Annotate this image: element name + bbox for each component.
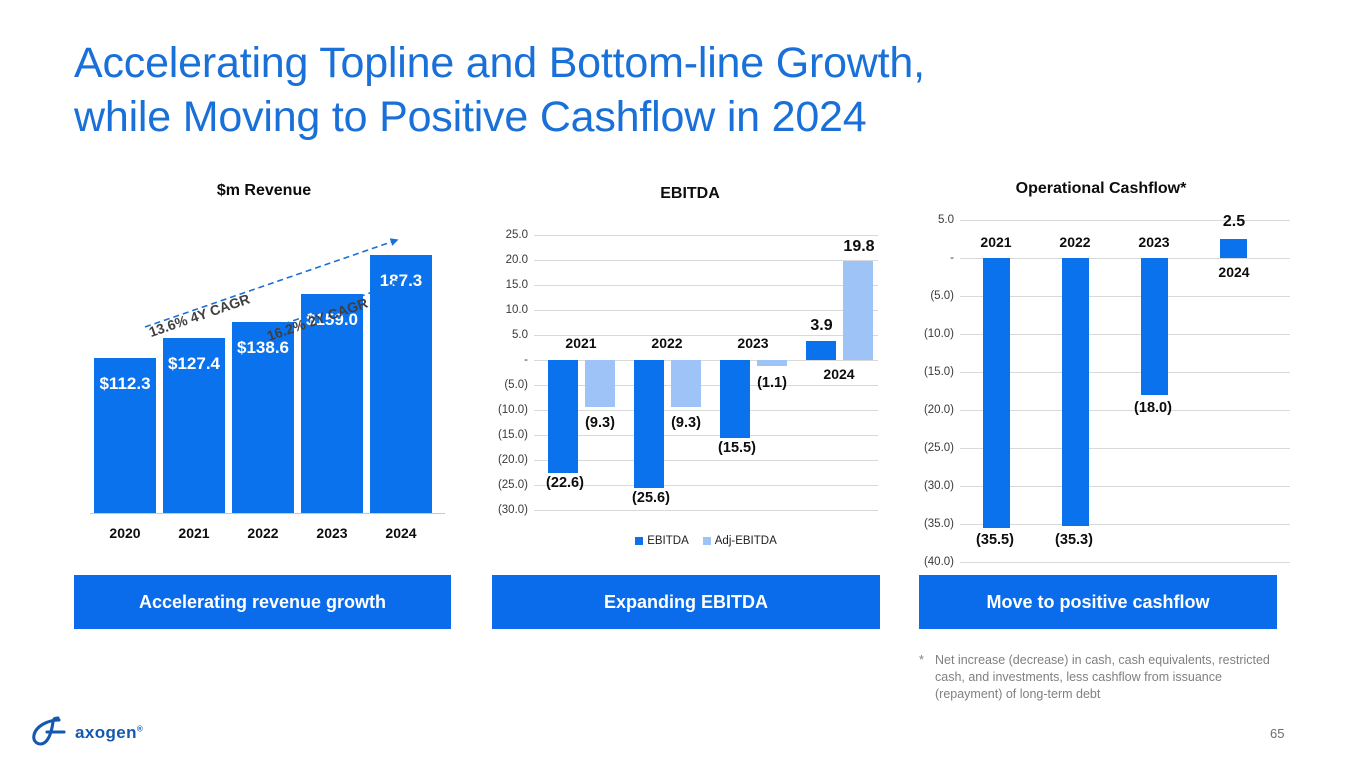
- gridline-ebitda-9: [534, 460, 878, 461]
- bar-ebitda-2023: [720, 360, 750, 438]
- legend-label-ebitda: EBITDA: [647, 535, 689, 547]
- page-title-line-1: Accelerating Topline and Bottom-line Gro…: [74, 36, 1194, 90]
- bar-label-adj-ebitda-2023: (1.1): [741, 375, 803, 391]
- gridline-ebitda-3: [534, 310, 878, 311]
- page-title-line-2: while Moving to Positive Cashflow in 202…: [74, 90, 1194, 144]
- bar-adj-ebitda-2023: [757, 360, 787, 366]
- chart-cashflow-plot: 2021 (35.5) 2022 (35.3) 2023 (18.0) 2.5 …: [960, 220, 1290, 563]
- bar-cashflow-2023: [1141, 258, 1168, 395]
- bar-label-ebitda-2023: (15.5): [702, 440, 772, 456]
- legend-swatch-ebitda-icon: [635, 537, 643, 545]
- axogen-wordmark: axogen®: [75, 723, 143, 743]
- gridline-ebitda-11: [534, 510, 878, 511]
- bar-cashflow-2024: [1220, 239, 1247, 258]
- footnote-text: Net increase (decrease) in cash, cash eq…: [919, 652, 1274, 703]
- bar-label-cashflow-2022: (35.3): [1031, 532, 1117, 548]
- gridline-ebitda-1: [534, 260, 878, 261]
- cat-label-revenue-2024: 2024: [370, 525, 432, 541]
- ytick-ebitda-7: (10.0): [490, 404, 528, 416]
- bar-label-ebitda-2024: 3.9: [799, 317, 844, 335]
- gridline-cashflow-9: [960, 562, 1290, 563]
- legend-swatch-adj-ebitda-icon: [703, 537, 711, 545]
- ytick-cashflow-7: (30.0): [912, 480, 954, 492]
- bar-cashflow-2022: [1062, 258, 1089, 526]
- page-title: Accelerating Topline and Bottom-line Gro…: [74, 36, 1194, 144]
- ytick-ebitda-3: 10.0: [490, 304, 528, 316]
- cat-label-cashflow-2021: 2021: [956, 234, 1036, 250]
- bar-label-cashflow-2021: (35.5): [952, 532, 1038, 548]
- bar-label-adj-ebitda-2021: (9.3): [569, 415, 631, 431]
- ytick-cashflow-1: -: [912, 252, 954, 264]
- footnote-marker: *: [919, 652, 924, 669]
- ytick-ebitda-11: (30.0): [490, 504, 528, 516]
- bar-ebitda-2024: [806, 341, 836, 361]
- bar-cashflow-2021: [983, 258, 1010, 528]
- ytick-cashflow-2: (5.0): [912, 290, 954, 302]
- bar-label-ebitda-2021: (22.6): [530, 475, 600, 491]
- ytick-cashflow-5: (20.0): [912, 404, 954, 416]
- chart-cashflow: Operational Cashflow* 5.0 - (5.0) (10.0)…: [912, 180, 1290, 550]
- chart-ebitda-legend: EBITDA Adj-EBITDA: [534, 535, 878, 547]
- ytick-ebitda-2: 15.0: [490, 279, 528, 291]
- cat-label-cashflow-2022: 2022: [1035, 234, 1115, 250]
- cat-label-ebitda-2021: 2021: [541, 335, 621, 351]
- cat-label-cashflow-2023: 2023: [1114, 234, 1194, 250]
- ytick-cashflow-0: 5.0: [912, 214, 954, 226]
- ytick-cashflow-3: (10.0): [912, 328, 954, 340]
- chart-revenue-plot: $112.3 $127.4 $138.6 $159.0 187.3: [90, 224, 445, 514]
- ytick-cashflow-8: (35.0): [912, 518, 954, 530]
- ytick-ebitda-10: (25.0): [490, 479, 528, 491]
- chart-revenue: $m Revenue $112.3 $127.4 $138.6 $159.0 1…: [74, 182, 454, 527]
- ytick-cashflow-9: (40.0): [912, 556, 954, 568]
- bar-label-adj-ebitda-2022: (9.3): [655, 415, 717, 431]
- legend-label-adj-ebitda: Adj-EBITDA: [715, 535, 777, 547]
- chart-cashflow-title: Operational Cashflow*: [912, 180, 1290, 198]
- axogen-wordmark-text: axogen: [75, 723, 137, 742]
- cat-label-ebitda-2022: 2022: [627, 335, 707, 351]
- bar-adj-ebitda-2021: [585, 360, 615, 407]
- bar-adj-ebitda-2024: [843, 261, 873, 360]
- ytick-ebitda-8: (15.0): [490, 429, 528, 441]
- cat-label-revenue-2021: 2021: [163, 525, 225, 541]
- ytick-ebitda-6: (5.0): [490, 379, 528, 391]
- ytick-ebitda-1: 20.0: [490, 254, 528, 266]
- ytick-ebitda-9: (20.0): [490, 454, 528, 466]
- gridline-ebitda-0: [534, 235, 878, 236]
- gridline-ebitda-7: [534, 410, 878, 411]
- legend-item-adj-ebitda[interactable]: Adj-EBITDA: [703, 535, 777, 547]
- banner-cashflow-label: Move to positive cashflow: [986, 592, 1209, 613]
- banner-ebitda-label: Expanding EBITDA: [604, 592, 768, 613]
- page-number: 65: [1270, 726, 1284, 741]
- chart-ebitda-title: EBITDA: [490, 185, 890, 203]
- cat-label-cashflow-2024: 2024: [1194, 264, 1274, 280]
- bar-label-ebitda-2022: (25.6): [616, 490, 686, 506]
- chart-ebitda: EBITDA 25.0 20.0 15.0 10.0 5.0 - (5.0) (…: [490, 185, 890, 555]
- legend-item-ebitda[interactable]: EBITDA: [635, 535, 689, 547]
- chart-revenue-title: $m Revenue: [74, 182, 454, 200]
- banner-cashflow[interactable]: Move to positive cashflow: [919, 575, 1277, 629]
- gridline-ebitda-2: [534, 285, 878, 286]
- banner-ebitda[interactable]: Expanding EBITDA: [492, 575, 880, 629]
- ytick-ebitda-0: 25.0: [490, 229, 528, 241]
- ytick-ebitda-4: 5.0: [490, 329, 528, 341]
- revenue-cagr-arrows: [90, 224, 445, 514]
- bar-label-adj-ebitda-2024: 19.8: [834, 238, 884, 256]
- cat-label-revenue-2022: 2022: [232, 525, 294, 541]
- axogen-trademark: ®: [137, 724, 143, 733]
- cat-label-ebitda-2024: 2024: [799, 366, 879, 382]
- ytick-cashflow-6: (25.0): [912, 442, 954, 454]
- cat-label-ebitda-2023: 2023: [713, 335, 793, 351]
- banner-revenue[interactable]: Accelerating revenue growth: [74, 575, 451, 629]
- bar-label-cashflow-2023: (18.0): [1110, 400, 1196, 416]
- bar-adj-ebitda-2022: [671, 360, 701, 407]
- axogen-mark-icon: [28, 716, 68, 750]
- cat-label-revenue-2020: 2020: [94, 525, 156, 541]
- axogen-logo: axogen®: [28, 716, 143, 750]
- footnote: * Net increase (decrease) in cash, cash …: [919, 652, 1274, 703]
- cat-label-revenue-2023: 2023: [301, 525, 363, 541]
- banner-revenue-label: Accelerating revenue growth: [139, 592, 386, 613]
- chart-ebitda-plot: 2021 (22.6) (9.3) 2022 (25.6) (9.3) 2023…: [534, 235, 878, 511]
- gridline-ebitda-8: [534, 435, 878, 436]
- ytick-ebitda-5: -: [490, 354, 528, 366]
- bar-label-cashflow-2024: 2.5: [1204, 213, 1264, 231]
- slide-canvas: Accelerating Topline and Bottom-line Gro…: [0, 0, 1365, 768]
- ytick-cashflow-4: (15.0): [912, 366, 954, 378]
